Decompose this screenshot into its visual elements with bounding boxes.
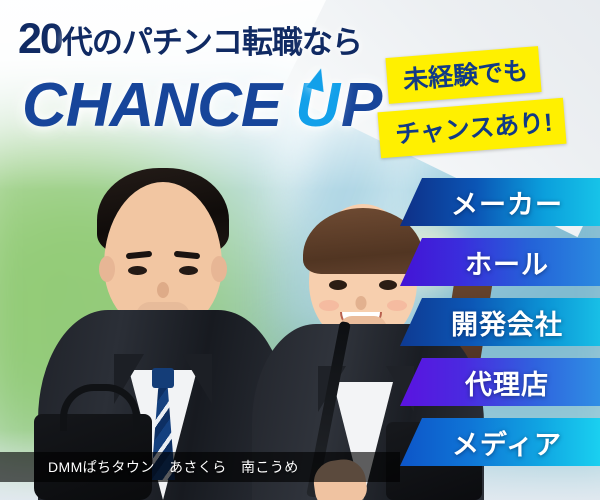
page-title: 20代のパチンコ転職なら <box>18 18 438 61</box>
category-label: 開発会社 <box>437 303 563 342</box>
man-ear-right <box>211 256 227 282</box>
headline-rest: 代のパチンコ転職 <box>62 25 302 60</box>
category-button-agency[interactable]: 代理店 <box>400 358 600 406</box>
logo-up-wrap: U <box>295 70 339 142</box>
man-lapel-right <box>182 354 212 404</box>
woman-nose <box>356 296 367 310</box>
badge-line-1: 未経験でも <box>385 46 541 104</box>
category-button-media[interactable]: メディア <box>400 418 600 466</box>
category-label: メーカー <box>437 183 563 222</box>
woman-cheek-left <box>319 300 339 311</box>
credit-text: DMMぱちタウン あさくら 南こうめ <box>0 457 299 477</box>
category-button-developer[interactable]: 開発会社 <box>400 298 600 346</box>
woman-eye-left <box>329 280 347 290</box>
credit-bar: DMMぱちタウン あさくら 南こうめ <box>0 452 400 482</box>
man-brow-right <box>174 251 200 260</box>
man-nose <box>157 282 169 298</box>
category-button-hall[interactable]: ホール <box>400 238 600 286</box>
headline-number: 20 <box>18 15 62 63</box>
man-ear-left <box>99 256 115 282</box>
man-brow-left <box>126 251 152 260</box>
chance-up-logo: CHANCEUP <box>22 70 422 142</box>
category-label: メディア <box>438 423 562 462</box>
status-badge: 未経験でも チャンスあり! <box>379 52 594 151</box>
promo-banner: 20代のパチンコ転職なら CHANCEUP 未経験でも チャンスあり! メーカー… <box>0 0 600 500</box>
logo-word-chance: CHANCE <box>22 71 281 140</box>
logo-letter-p: P <box>341 71 381 140</box>
man-eye-left <box>128 266 147 275</box>
woman-eye-right <box>379 280 397 290</box>
man-tie-knot <box>152 368 174 388</box>
category-list: メーカー ホール 開発会社 代理店 メディア <box>400 178 600 478</box>
headline-tail: なら <box>302 25 362 60</box>
badge-line-2: チャンスあり! <box>377 98 566 158</box>
man-eye-right <box>179 266 198 275</box>
category-button-maker[interactable]: メーカー <box>400 178 600 226</box>
category-label: 代理店 <box>451 363 549 402</box>
category-label: ホール <box>451 243 549 282</box>
